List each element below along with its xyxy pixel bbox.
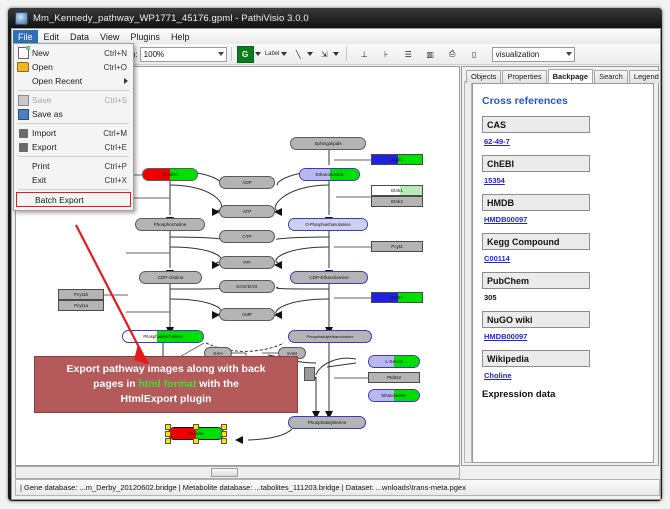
visualization-combo[interactable]: visualization xyxy=(492,47,575,62)
tab-legend[interactable]: Legend xyxy=(629,70,661,83)
menu-item-batch-export[interactable]: Batch Export xyxy=(16,192,131,207)
label-icon[interactable]: Label xyxy=(265,47,280,62)
window-titlebar[interactable]: Mm_Kennedy_pathway_WP1771_45176.gpml - P… xyxy=(8,8,662,28)
toolbar-divider xyxy=(346,47,347,61)
menu-item-label: Exit xyxy=(32,175,105,185)
menu-item-accel: Ctrl+S xyxy=(105,96,133,105)
sidebar-panel: Objects Properties Backpage Search Legen… xyxy=(461,66,659,466)
chevron-down-icon[interactable] xyxy=(307,52,313,56)
menu-divider xyxy=(18,189,129,190)
menu-item-accel: Ctrl+E xyxy=(105,143,133,152)
hscroll-thumb[interactable] xyxy=(211,468,238,477)
backpage-content: Cross references CAS 62-49-7 ChEBI 15354… xyxy=(472,83,654,463)
xref-header-pubchem: PubChem xyxy=(482,272,590,289)
menu-item-save-as[interactable]: Save as xyxy=(14,107,133,121)
xref-value-hmdb[interactable]: HMDB00097 xyxy=(484,215,653,224)
connector-icon[interactable]: ⇲ xyxy=(317,47,332,62)
chevron-down-icon xyxy=(218,52,224,56)
zoom-combo[interactable]: 100% xyxy=(140,47,227,62)
menu-divider xyxy=(18,90,129,91)
pathvisio-icon xyxy=(15,12,28,25)
cross-references-heading: Cross references xyxy=(482,95,653,107)
sidebar-collapse-strip[interactable] xyxy=(464,81,472,463)
export-icon xyxy=(14,143,32,152)
new-document-icon xyxy=(14,47,32,59)
statusbar-text: | Gene database: ...m_Derby_20120602.bri… xyxy=(16,483,466,492)
statusbar: | Gene database: ...m_Derby_20120602.bri… xyxy=(15,479,660,496)
chevron-down-icon[interactable] xyxy=(281,52,287,56)
xref-header-chebi: ChEBI xyxy=(482,155,590,172)
window-title: Mm_Kennedy_pathway_WP1771_45176.gpml - P… xyxy=(33,13,309,24)
menu-item-label: Open Recent xyxy=(32,76,133,86)
menu-item-label: New xyxy=(32,48,104,58)
menu-item-exit[interactable]: Exit Ctrl+X xyxy=(14,173,133,187)
menu-item-accel: Ctrl+N xyxy=(104,49,133,58)
visualization-value: visualization xyxy=(496,50,540,59)
grid-icon[interactable]: G xyxy=(237,46,254,63)
menu-item-label: Print xyxy=(32,161,105,171)
menu-item-print[interactable]: Print Ctrl+P xyxy=(14,159,133,173)
xref-value-chebi[interactable]: 15354 xyxy=(484,176,653,185)
chevron-down-icon[interactable] xyxy=(333,52,339,56)
menu-item-accel: Ctrl+P xyxy=(105,162,133,171)
chevron-down-icon xyxy=(566,52,572,56)
menu-view[interactable]: View xyxy=(95,30,124,44)
menu-item-accel: Ctrl+M xyxy=(103,129,133,138)
menu-item-label: Save xyxy=(32,95,105,105)
sidebar-tabstrip: Objects Properties Backpage Search Legen… xyxy=(466,69,658,83)
align-left-icon[interactable]: ⊦ xyxy=(379,47,394,62)
tab-search[interactable]: Search xyxy=(594,70,628,83)
menu-divider xyxy=(18,156,129,157)
xref-value-nugo-wiki[interactable]: HMDB00097 xyxy=(484,332,653,341)
menu-item-accel: Ctrl+O xyxy=(104,63,133,72)
xref-header-kegg-compound: Kegg Compound xyxy=(482,233,590,250)
tab-backpage[interactable]: Backpage xyxy=(548,69,593,84)
xref-header-wikipedia: Wikipedia xyxy=(482,350,590,367)
menu-item-label: Open xyxy=(32,62,104,72)
xref-header-hmdb: HMDB xyxy=(482,194,590,211)
xref-header-nugo-wiki: NuGO wiki xyxy=(482,311,590,328)
zoom-value: 100% xyxy=(144,50,164,59)
menu-item-label: Batch Export xyxy=(35,195,130,205)
import-icon xyxy=(14,129,32,138)
menu-item-save: Save Ctrl+S xyxy=(14,93,133,107)
toolbar-divider xyxy=(231,47,232,61)
distribute-horizontal-icon[interactable]: ▥ xyxy=(423,47,438,62)
save-as-icon xyxy=(14,109,32,120)
menu-data[interactable]: Data xyxy=(65,30,94,44)
xref-value-pubchem: 305 xyxy=(484,293,653,302)
xref-value-wikipedia[interactable]: Choline xyxy=(484,371,653,380)
menu-item-import[interactable]: Import Ctrl+M xyxy=(14,126,133,140)
xref-value-kegg-compound[interactable]: C00114 xyxy=(484,254,653,263)
menu-item-open[interactable]: Open Ctrl+O xyxy=(14,60,133,74)
menu-item-label: Import xyxy=(32,128,103,138)
file-menu-dropdown[interactable]: New Ctrl+N Open Ctrl+O Open Recent Save … xyxy=(13,43,134,211)
save-disk-icon xyxy=(14,95,32,106)
xref-header-cas: CAS xyxy=(482,116,590,133)
chevron-down-icon[interactable] xyxy=(255,52,261,56)
menu-file[interactable]: File xyxy=(13,30,38,44)
menu-item-label: Save as xyxy=(32,109,127,119)
menu-item-export[interactable]: Export Ctrl+E xyxy=(14,140,133,154)
menu-plugins[interactable]: Plugins xyxy=(125,30,165,44)
tab-properties[interactable]: Properties xyxy=(502,70,546,83)
expression-data-heading: Expression data xyxy=(482,389,653,400)
application-window: Mm_Kennedy_pathway_WP1771_45176.gpml - P… xyxy=(8,8,662,501)
size-icon[interactable]: ⎙ xyxy=(445,47,460,62)
canvas-hscrollbar[interactable] xyxy=(15,466,460,479)
xref-value-cas[interactable]: 62-49-7 xyxy=(484,137,653,146)
distribute-vertical-icon[interactable]: ☰ xyxy=(401,47,416,62)
menu-item-open-recent[interactable]: Open Recent xyxy=(14,74,133,88)
menu-help[interactable]: Help xyxy=(166,30,195,44)
stack-icon[interactable]: ▯ xyxy=(467,47,482,62)
screenshot-root: Mm_Kennedy_pathway_WP1771_45176.gpml - P… xyxy=(0,0,670,509)
menu-item-accel: Ctrl+X xyxy=(105,176,133,185)
menu-item-label: Export xyxy=(32,142,105,152)
align-top-icon[interactable]: ⊥ xyxy=(357,47,372,62)
tab-objects[interactable]: Objects xyxy=(466,70,501,83)
menu-divider xyxy=(18,123,129,124)
open-folder-icon xyxy=(14,62,32,72)
menu-edit[interactable]: Edit xyxy=(39,30,65,44)
window-client-area: File Edit Data View Plugins Help Zoom: 1… xyxy=(11,28,661,500)
menu-item-new[interactable]: New Ctrl+N xyxy=(14,46,133,60)
line-icon[interactable]: ╲ xyxy=(291,47,306,62)
chevron-right-icon xyxy=(124,78,128,84)
